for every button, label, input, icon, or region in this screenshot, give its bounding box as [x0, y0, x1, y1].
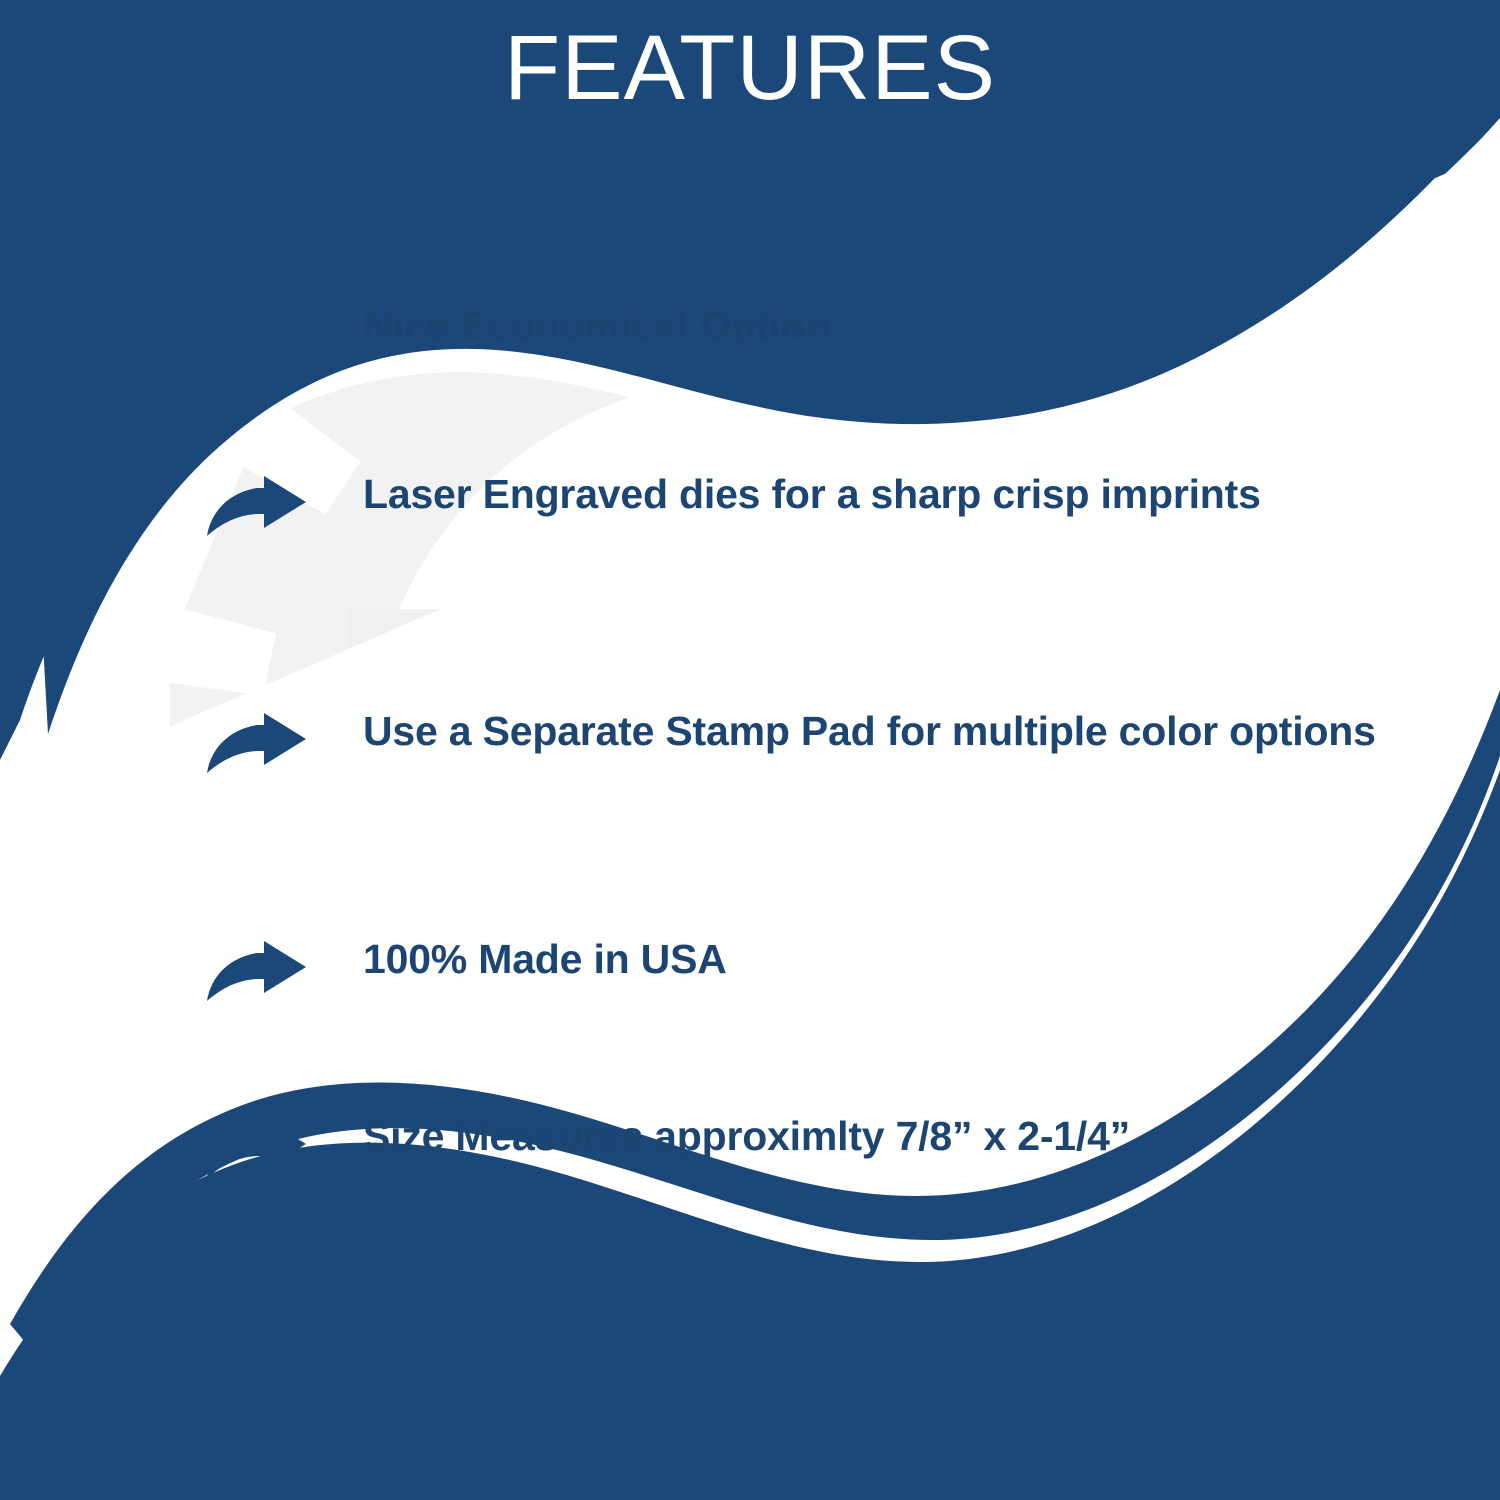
feature-text: 100% Made in USA — [363, 933, 1475, 985]
feature-item: Use a Separate Stamp Pad for multiple co… — [205, 705, 1475, 775]
feature-item: Laser Engraved dies for a sharp crisp im… — [205, 468, 1475, 538]
feature-item: 100% Made in USA — [205, 933, 1475, 1003]
feature-text: Laser Engraved dies for a sharp crisp im… — [363, 468, 1475, 520]
page-title: FEATURES — [0, 22, 1500, 114]
curved-arrow-icon — [205, 474, 309, 538]
curved-arrow-icon — [205, 305, 309, 369]
curved-arrow-icon — [205, 1116, 309, 1180]
bottom-wave-thin-arc — [10, 690, 1500, 1348]
feature-item: Size Measures approximlty 7/8” x 2-1/4” — [205, 1110, 1475, 1180]
features-card: ESS FEATURES Nice Economical Option Las — [0, 0, 1500, 1500]
curved-arrow-icon — [205, 711, 309, 775]
feature-text: Size Measures approximlty 7/8” x 2-1/4” — [363, 1110, 1475, 1162]
feature-text: Use a Separate Stamp Pad for multiple co… — [363, 705, 1475, 757]
feature-text: Nice Economical Option — [363, 299, 1475, 351]
curved-arrow-icon — [205, 939, 309, 1003]
feature-item: Nice Economical Option — [205, 299, 1475, 369]
